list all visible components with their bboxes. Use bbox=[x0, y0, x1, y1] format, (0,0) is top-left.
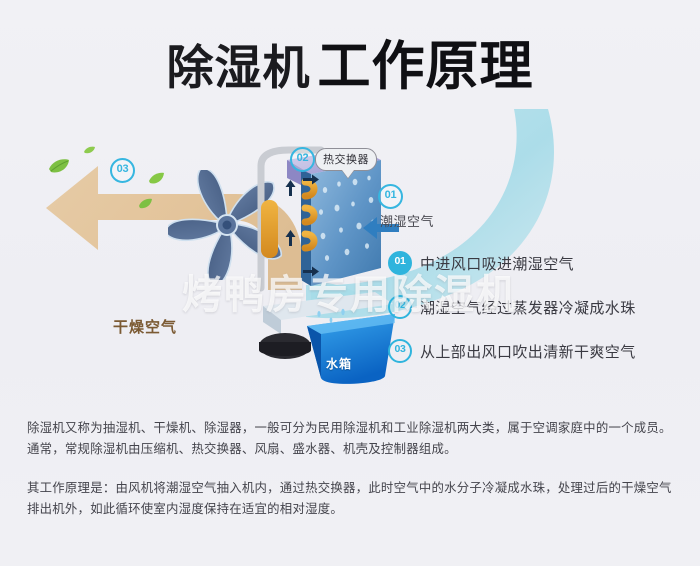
leaf-icon bbox=[148, 172, 165, 185]
step-badge-03: 03 bbox=[388, 339, 412, 363]
step-text-03: 从上部出风口吹出清新干爽空气 bbox=[420, 341, 636, 362]
page-title-part1: 除湿机 bbox=[167, 41, 311, 94]
body-copy: 除湿机又称为抽湿机、干燥机、除湿器，一般可分为民用除湿机和工业除湿机两大类，属于… bbox=[27, 418, 677, 520]
heat-exchanger-callout-label: 热交换器 bbox=[323, 154, 369, 166]
page-title-part2: 工作原理 bbox=[318, 37, 534, 96]
diagram-badge-02: 02 bbox=[290, 147, 315, 172]
leaf-icon bbox=[138, 198, 153, 209]
step-badge-02: 02 bbox=[388, 295, 412, 319]
page-title: 除湿机工作原理 bbox=[0, 24, 700, 100]
list-item: 02 潮湿空气经过蒸发器冷凝成水珠 bbox=[388, 296, 688, 318]
body-paragraph-1: 除湿机又称为抽湿机、干燥机、除湿器，一般可分为民用除湿机和工业除湿机两大类，属于… bbox=[27, 418, 677, 460]
list-item: 03 从上部出风口吹出清新干爽空气 bbox=[388, 340, 688, 362]
step-badge-01: 01 bbox=[388, 251, 412, 275]
diagram-badge-01: 01 bbox=[378, 184, 403, 209]
water-tank-label: 水箱 bbox=[326, 355, 352, 372]
list-item: 01 中进风口吸进潮湿空气 bbox=[388, 252, 688, 274]
leaf-icon bbox=[84, 146, 95, 154]
dehumidifier-unit-icon bbox=[243, 138, 403, 388]
step-list: 01 中进风口吸进潮湿空气 02 潮湿空气经过蒸发器冷凝成水珠 03 从上部出风… bbox=[388, 252, 688, 384]
step-text-02: 潮湿空气经过蒸发器冷凝成水珠 bbox=[420, 297, 636, 318]
body-paragraph-2: 其工作原理是：由风机将潮湿空气抽入机内，通过热交换器，此时空气中的水分子冷凝成水… bbox=[27, 478, 677, 520]
leaf-icon bbox=[48, 158, 70, 174]
dry-air-label: 干燥空气 bbox=[113, 316, 177, 337]
diagram-badge-03: 03 bbox=[110, 158, 135, 183]
humid-air-label: 潮湿空气 bbox=[380, 211, 434, 230]
heat-exchanger-callout: 热交换器 bbox=[315, 148, 377, 171]
infographic-page: 除湿机工作原理 bbox=[0, 0, 700, 566]
step-text-01: 中进风口吸进潮湿空气 bbox=[420, 253, 574, 274]
